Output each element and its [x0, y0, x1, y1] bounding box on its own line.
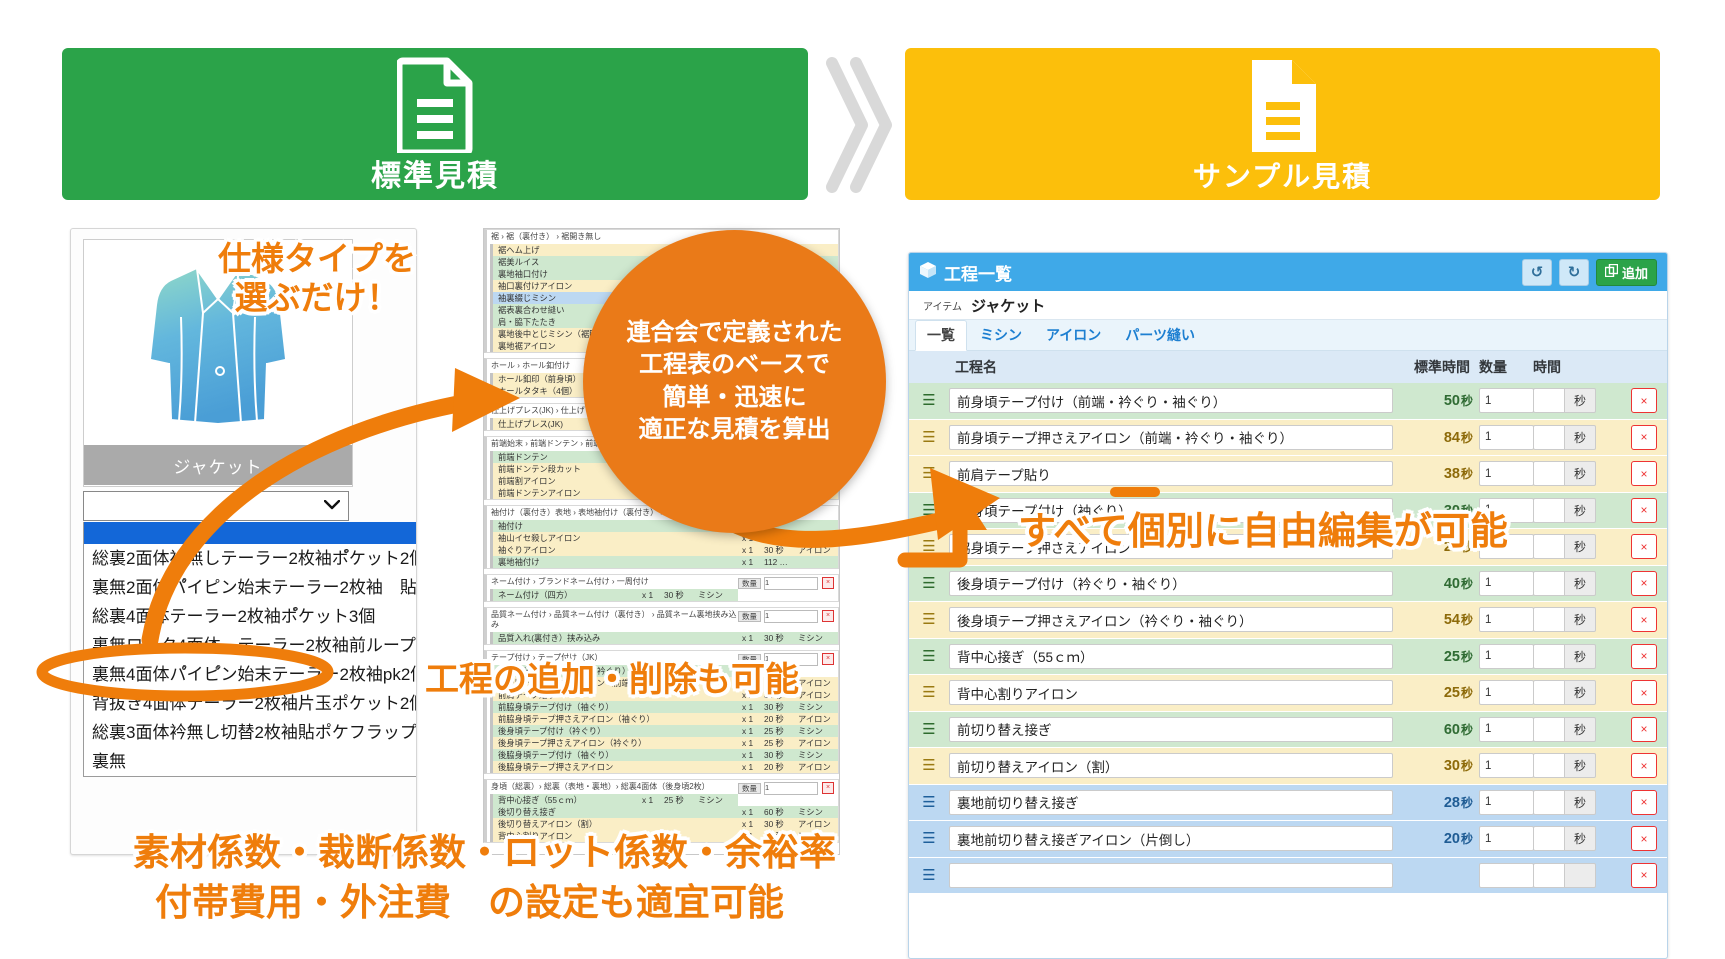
spec-type-select[interactable] [83, 491, 349, 521]
time-unit-label: 秒 [1564, 607, 1596, 632]
process-detail-row[interactable]: 後切り替え接ぎx 160 秒ミシン [493, 806, 838, 818]
quantity-input[interactable]: 1 [1479, 753, 1534, 778]
table-row[interactable]: ☰前身頃テープ押さえアイロン（前端・衿ぐり・袖ぐり）84秒1秒× [909, 420, 1667, 457]
drag-handle-icon[interactable]: ☰ [922, 393, 935, 408]
table-row[interactable]: ☰× [909, 858, 1667, 895]
delete-row-button[interactable]: × [1631, 717, 1657, 742]
detail-row-qty: x 1 [742, 807, 764, 817]
delete-row-button[interactable]: × [1631, 607, 1657, 632]
delete-cell[interactable]: × [1621, 680, 1667, 705]
tab-item[interactable]: ミシン [969, 321, 1033, 350]
quantity-input[interactable]: 1 [1479, 790, 1534, 815]
process-name-input[interactable] [949, 863, 1393, 888]
process-name-cell[interactable]: 背中心接ぎ（55ｃｍ） [949, 644, 1399, 669]
delete-row-button[interactable]: × [1631, 863, 1657, 888]
quantity-input[interactable]: 1 [1479, 571, 1534, 596]
time-unit-label: 秒 [1564, 790, 1596, 815]
process-name-input[interactable]: 裏地前切り替え接ぎ [949, 790, 1393, 815]
delete-cell[interactable]: × [1621, 425, 1667, 450]
detail-row-name: ネーム付け（四方） [498, 589, 642, 601]
delete-row-button[interactable]: × [1631, 425, 1657, 450]
process-group-breadcrumb: ×数量1身頃（総裏）› 総裏（表地・裏地）› 総裏4面体（後身頃2枚） [487, 780, 838, 794]
standard-time-unit: 秒 [1461, 796, 1473, 810]
process-detail-row[interactable]: 品質入れ(裏付き）挟み込みx 130 秒ミシン [493, 632, 838, 644]
spec-option[interactable]: 背抜き4面体テーラー2枚袖片玉ポケット2個 [84, 689, 417, 718]
window-titlebar: 工程一覧 ↺ ↻ 追加 [909, 253, 1667, 291]
drag-handle-icon[interactable]: ☰ [922, 758, 935, 773]
detail-row-kind: アイロン [798, 677, 838, 689]
detail-row-name: 品質入れ(裏付き）挟み込み [498, 632, 742, 644]
group-quantity-input[interactable]: 1 [764, 610, 818, 623]
quantity-cell[interactable] [1479, 863, 1533, 888]
quantity-cell[interactable]: 1 [1479, 717, 1533, 742]
quantity-cell[interactable]: 1 [1479, 790, 1533, 815]
drag-handle-icon[interactable]: ☰ [922, 503, 935, 518]
detail-row-qty: x 1 [742, 545, 764, 555]
delete-cell[interactable]: × [1621, 826, 1667, 851]
circle-callout-line-4: 適正な見積を算出 [639, 414, 831, 446]
time-unit-label: 秒 [1564, 644, 1596, 669]
annotation-spec-type-line1: 仕様タイプを [218, 240, 416, 279]
drag-handle-icon[interactable]: ☰ [922, 868, 935, 883]
time-input[interactable] [1533, 753, 1564, 778]
process-detail-row[interactable]: 袖ぐりアイロンx 130 秒アイロン [493, 544, 838, 556]
process-name-input[interactable]: 後身頃テープ付け（衿ぐり・袖ぐり） [949, 571, 1393, 596]
table-row[interactable]: ☰裏地前切り替え接ぎアイロン（片倒し）20秒1秒× [909, 821, 1667, 858]
delete-cell[interactable]: × [1621, 498, 1667, 523]
time-cell[interactable]: 秒 [1533, 717, 1621, 742]
tab-item[interactable]: アイロン [1035, 321, 1112, 350]
standard-estimate-banner[interactable]: 標準見積 [62, 48, 808, 200]
process-tabs[interactable]: 一覧ミシンアイロンパーツ縫い [909, 320, 1667, 351]
time-unit-label: 秒 [1564, 461, 1596, 486]
drag-handle-icon[interactable]: ☰ [922, 466, 935, 481]
time-input[interactable] [1533, 571, 1564, 596]
standard-time-unit: 秒 [1461, 613, 1473, 627]
process-name-cell[interactable]: 前切り替え接ぎ [949, 717, 1399, 742]
quantity-input[interactable]: 1 [1479, 826, 1534, 851]
time-unit-label: 秒 [1564, 388, 1596, 413]
delete-row-button[interactable]: × [1631, 461, 1657, 486]
table-row[interactable]: ☰裏地前切り替え接ぎ28秒1秒× [909, 785, 1667, 822]
group-quantity-input[interactable]: 1 [764, 577, 818, 590]
quantity-input[interactable]: 1 [1479, 644, 1534, 669]
process-group-breadcrumb: ×数量1品質ネーム付け › 品質ネーム付け（裏付き） › 品質ネーム裏地挟み込み [487, 608, 838, 632]
delete-row-button[interactable]: × [1631, 753, 1657, 778]
header-name: 工程名 [949, 357, 1405, 377]
process-name-cell[interactable]: 後身頃テープ押さえアイロン（衿ぐり・袖ぐり） [949, 607, 1399, 632]
quantity-cell[interactable]: 1 [1479, 644, 1533, 669]
delete-cell[interactable]: × [1621, 863, 1667, 888]
drag-handle-icon[interactable]: ☰ [922, 722, 935, 737]
quantity-cell[interactable]: 1 [1479, 425, 1533, 450]
drag-handle-cell[interactable]: ☰ [909, 430, 949, 445]
time-input[interactable] [1533, 790, 1564, 815]
drag-handle-icon[interactable]: ☰ [922, 430, 935, 445]
group-delete-button[interactable]: × [822, 782, 834, 794]
table-row[interactable]: ☰背中心接ぎ（55ｃｍ）25秒1秒× [909, 639, 1667, 676]
standard-time-unit: 秒 [1461, 394, 1473, 408]
tab-active[interactable]: 一覧 [915, 320, 967, 351]
annotation-coefficients-line1: 素材係数・裁断係数・ロット係数・余裕率 [133, 822, 836, 876]
process-group-rows: 袖付け袖山イセ殺しアイロンx 130 秒アイロン袖ぐりアイロンx 130 秒アイ… [490, 520, 838, 568]
detail-row-qty: x 1 [742, 726, 764, 736]
process-group: ×数量1品質ネーム付け › 品質ネーム付け（裏付き） › 品質ネーム裏地挟み込み… [484, 607, 839, 645]
time-cell[interactable]: 秒 [1533, 607, 1621, 632]
process-group: ×数量1ネーム付け › ブランドネーム付け › 一周付けネーム付け（四方）x 1… [484, 574, 839, 602]
detail-row-kind: ミシン [798, 749, 838, 761]
process-group-rows: ネーム付け（四方）x 130 秒ミシン [490, 589, 838, 601]
process-name-cell[interactable]: 前肩テープ貼り [949, 461, 1399, 486]
detail-row-time: 25 秒 [764, 737, 798, 749]
detail-row-time: 30 秒 [664, 589, 698, 601]
drag-handle-icon[interactable]: ☰ [922, 612, 935, 627]
process-name-cell[interactable]: 後身頃テープ付け（衿ぐり・袖ぐり） [949, 571, 1399, 596]
group-delete-button[interactable]: × [822, 653, 834, 665]
redo-button[interactable]: ↻ [1559, 259, 1589, 286]
drag-handle-cell[interactable]: ☰ [909, 466, 949, 481]
process-detail-row[interactable]: 後脇身頃テープ付け（袖ぐり）x 130 秒ミシン [493, 749, 838, 761]
sample-estimate-label: サンプル見積 [1193, 163, 1372, 191]
spec-option[interactable]: 裏無ロック4面体 テーラー2枚袖前ループ開き [84, 631, 417, 660]
detail-row-time: 30 秒 [764, 532, 798, 544]
delete-row-button[interactable]: × [1631, 680, 1657, 705]
process-detail-row[interactable]: 後身頃テープ付け（衿ぐり）x 125 秒ミシン [493, 725, 838, 737]
group-quantity-input[interactable]: 1 [764, 782, 818, 795]
delete-row-button[interactable]: × [1631, 790, 1657, 815]
detail-row-qty: x 1 [742, 750, 764, 760]
spec-option[interactable]: 裏無2面体パ゚イピン始末テーラー2枚袖 貼ポケ2個 [84, 573, 417, 602]
process-detail-row[interactable]: ネーム付け（四方）x 130 秒ミシン [493, 589, 738, 601]
detail-row-time: 25 秒 [664, 794, 698, 806]
table-row[interactable]: ☰背中心割りアイロン25秒1秒× [909, 675, 1667, 712]
time-input[interactable] [1533, 534, 1564, 559]
process-name-input[interactable]: 前肩テープ貼り [949, 461, 1393, 486]
drag-handle-cell[interactable]: ☰ [909, 612, 949, 627]
standard-time-unit: 秒 [1461, 686, 1473, 700]
process-detail-row[interactable]: 袖山イセ殺しアイロンx 130 秒アイロン [493, 532, 838, 544]
circle-callout-line-2: 工程表のベースで [639, 349, 830, 381]
process-name-cell[interactable]: 前身頃テープ付け（前端・衿ぐり・袖ぐり） [949, 388, 1399, 413]
drag-handle-cell[interactable]: ☰ [909, 795, 949, 810]
process-detail-row[interactable]: 後脇身頃テープ押さえアイロンx 120 秒アイロン [493, 761, 838, 773]
detail-row-qty: x 1 [742, 738, 764, 748]
group-quantity[interactable]: 数量1 [738, 610, 818, 623]
table-row[interactable]: ☰後身頃テープ付け（衿ぐり・袖ぐり）40秒1秒× [909, 566, 1667, 603]
delete-cell[interactable]: × [1621, 571, 1667, 596]
standard-time-cell: 60秒 [1399, 721, 1479, 738]
header-time: 時間 [1533, 357, 1621, 377]
standard-time-unit: 秒 [1461, 832, 1473, 846]
tab-item[interactable]: パーツ縫い [1114, 321, 1206, 350]
detail-row-name: 後切り替え接ぎ [498, 806, 742, 818]
time-unit-label: 秒 [1564, 571, 1596, 596]
detail-row-time: 30 秒 [764, 544, 798, 556]
table-header-row: 工程名 標準時間 数量 時間 [909, 351, 1667, 383]
standard-time-cell: 28秒 [1399, 794, 1479, 811]
group-quantity[interactable]: 数量1 [738, 782, 818, 795]
table-row[interactable]: ☰前肩テープ貼り38秒1秒× [909, 456, 1667, 493]
annotation-edit-free: すべて個別に自由編集が可能 [1018, 500, 1508, 555]
standard-time-value: 28 [1444, 795, 1460, 811]
detail-row-qty: x 1 [742, 557, 764, 567]
quantity-input[interactable]: 1 [1479, 461, 1534, 486]
time-cell[interactable]: 秒 [1533, 571, 1621, 596]
document-icon [1248, 58, 1318, 159]
time-unit-label: 秒 [1564, 425, 1596, 450]
spec-type-option-list[interactable]: 総裏2面体衿無しテーラー2枚袖ポ゚ケット2個裏無2面体パ゚イピン始末テーラー2枚… [83, 522, 417, 777]
time-unit-label: 秒 [1564, 680, 1596, 705]
delete-cell[interactable]: × [1621, 388, 1667, 413]
delete-row-button[interactable]: × [1631, 644, 1657, 669]
drag-handle-cell[interactable]: ☰ [909, 393, 949, 408]
process-detail-row[interactable]: 裏地袖付けx 1112 … [493, 556, 838, 568]
quantity-cell[interactable]: 1 [1479, 753, 1533, 778]
standard-time-unit: 秒 [1461, 723, 1473, 737]
spec-option[interactable]: 総裏4面体テーラー2枚袖ポ゚ケット3個 [84, 602, 417, 631]
time-cell[interactable]: 秒 [1533, 534, 1621, 559]
detail-row-kind: アイロン [798, 689, 838, 701]
time-input[interactable] [1533, 388, 1564, 413]
standard-time-value: 30 [1444, 758, 1460, 774]
quantity-cell[interactable]: 1 [1479, 571, 1533, 596]
standard-time-cell: 50秒 [1399, 392, 1479, 409]
delete-cell[interactable]: × [1621, 534, 1667, 559]
process-name-cell[interactable]: 前身頃テープ押さえアイロン（前端・衿ぐり・袖ぐり） [949, 425, 1399, 450]
standard-time-cell: 25秒 [1399, 684, 1479, 701]
time-input[interactable] [1533, 826, 1564, 851]
time-input[interactable] [1533, 607, 1564, 632]
table-row[interactable]: ☰前切り替え接ぎ60秒1秒× [909, 712, 1667, 749]
delete-row-button[interactable]: × [1631, 498, 1657, 523]
detail-row-qty: x 1 [742, 533, 764, 543]
process-name-input[interactable]: 前身頃テープ押さえアイロン（前端・衿ぐり・袖ぐり） [949, 425, 1393, 450]
process-detail-row[interactable]: 背中心接ぎ（55ｃｍ）x 125 秒ミシン [493, 794, 738, 806]
process-group-rows: 品質入れ(裏付き）挟み込みx 130 秒ミシン [490, 632, 838, 644]
time-input[interactable] [1533, 680, 1564, 705]
quantity-cell[interactable]: 1 [1479, 461, 1533, 486]
time-input[interactable] [1533, 863, 1564, 888]
process-name-cell[interactable]: 裏地前切り替え接ぎ [949, 790, 1399, 815]
undo-button[interactable]: ↺ [1522, 259, 1552, 286]
sample-estimate-banner[interactable]: サンプル見積 [905, 48, 1660, 200]
table-row[interactable]: ☰前身頃テープ付け（前端・衿ぐり・袖ぐり）50秒1秒× [909, 383, 1667, 420]
spec-option[interactable]: 裏無 [84, 747, 417, 776]
double-chevron-icon [826, 55, 896, 195]
quantity-cell[interactable]: 1 [1479, 826, 1533, 851]
process-name-input[interactable]: 裏地前切り替え接ぎアイロン（片倒し） [949, 826, 1393, 851]
drag-handle-icon[interactable]: ☰ [922, 685, 935, 700]
process-detail-row[interactable]: 前脇身頃テープ付け（袖ぐり）x 130 秒ミシン [493, 701, 838, 713]
group-quantity-label: 数量 [738, 611, 761, 622]
drag-handle-icon[interactable]: ☰ [922, 539, 935, 554]
quantity-input[interactable]: 1 [1479, 388, 1534, 413]
delete-cell[interactable]: × [1621, 607, 1667, 632]
standard-time-value: 60 [1444, 722, 1460, 738]
poster-root: 標準見積 サンプル見積 [0, 0, 1725, 959]
item-label: アイテム [923, 298, 962, 313]
time-input[interactable] [1533, 461, 1564, 486]
process-name-cell[interactable]: 背中心割りアイロン [949, 680, 1399, 705]
standard-time-cell: 25秒 [1399, 648, 1479, 665]
time-cell[interactable]: 秒 [1533, 680, 1621, 705]
process-name-cell[interactable] [949, 863, 1399, 888]
drag-handle-icon[interactable]: ☰ [922, 649, 935, 664]
drag-handle-cell[interactable]: ☰ [909, 831, 949, 846]
drag-handle-cell[interactable]: ☰ [909, 576, 949, 591]
document-icon [397, 57, 473, 158]
spec-option[interactable]: 総裏3面体衿無し切替2枚袖貼ポケフラップ付き [84, 718, 417, 747]
add-button[interactable]: 追加 [1596, 259, 1657, 286]
drag-handle-cell[interactable]: ☰ [909, 649, 949, 664]
time-cell[interactable]: 秒 [1533, 498, 1621, 523]
drag-handle-icon[interactable]: ☰ [922, 795, 935, 810]
drag-handle-cell[interactable]: ☰ [909, 868, 949, 883]
detail-row-time: 30 秒 [764, 749, 798, 761]
item-caption: ジャケット [84, 445, 352, 485]
detail-row-qty: x 1 [642, 795, 664, 805]
quantity-cell[interactable]: 1 [1479, 680, 1533, 705]
annotation-coefficients-line2: 付帯費用・外注費 の設定も適宜可能 [155, 872, 784, 926]
drag-handle-cell[interactable]: ☰ [909, 758, 949, 773]
time-input[interactable] [1533, 717, 1564, 742]
detail-row-kind: アイロン [798, 713, 838, 725]
quantity-input[interactable] [1479, 863, 1534, 888]
detail-row-name: 後身頃テープ押さえアイロン（衿ぐり） [498, 737, 742, 749]
group-quantity-label: 数量 [738, 783, 761, 794]
delete-cell[interactable]: × [1621, 461, 1667, 486]
time-unit-label: 秒 [1564, 534, 1596, 559]
detail-row-name: 前脇身頃テープ付け（袖ぐり） [498, 701, 742, 713]
group-quantity[interactable]: 数量1 [738, 577, 818, 590]
drag-handle-cell[interactable]: ☰ [909, 503, 949, 518]
header-standard-time: 標準時間 [1405, 357, 1479, 377]
detail-row-name: 裏地袖付け [498, 556, 742, 568]
process-name-input[interactable]: 前切り替えアイロン（割） [949, 753, 1393, 778]
delete-cell[interactable]: × [1621, 753, 1667, 778]
delete-cell[interactable]: × [1621, 644, 1667, 669]
standard-time-cell: 38秒 [1399, 465, 1479, 482]
circle-callout-line-3: 簡単・迅速に [663, 382, 807, 414]
group-delete-button[interactable]: × [822, 610, 834, 622]
chevron-down-icon [324, 497, 340, 515]
annotation-spec-type-line2: 選ぶだけ！ [218, 279, 416, 318]
spec-option[interactable]: 総裏2面体衿無しテーラー2枚袖ポ゚ケット2個 [84, 544, 417, 573]
standard-time-cell: 30秒 [1399, 757, 1479, 774]
detail-row-qty: x 1 [742, 714, 764, 724]
time-cell[interactable]: 秒 [1533, 790, 1621, 815]
standard-time-unit: 秒 [1461, 650, 1473, 664]
time-unit-label: 秒 [1564, 826, 1596, 851]
quantity-cell[interactable]: 1 [1479, 388, 1533, 413]
time-cell[interactable]: 秒 [1533, 753, 1621, 778]
quantity-input[interactable]: 1 [1479, 717, 1534, 742]
time-cell[interactable]: 秒 [1533, 461, 1621, 486]
delete-row-button[interactable]: × [1631, 534, 1657, 559]
standard-time-value: 40 [1444, 576, 1460, 592]
drag-handle-cell[interactable]: ☰ [909, 539, 949, 554]
time-input[interactable] [1533, 425, 1564, 450]
drag-handle-icon[interactable]: ☰ [922, 576, 935, 591]
time-input[interactable] [1533, 644, 1564, 669]
table-row[interactable]: ☰後身頃テープ押さえアイロン（衿ぐり・袖ぐり）54秒1秒× [909, 602, 1667, 639]
time-cell[interactable]: 秒 [1533, 425, 1621, 450]
drag-handle-icon[interactable]: ☰ [922, 831, 935, 846]
process-list-window: 工程一覧 ↺ ↻ 追加 アイテム ジャケット 一覧ミシンアイロンパーツ縫い 工程… [908, 252, 1668, 959]
time-unit-label: 秒 [1564, 753, 1596, 778]
detail-row-time: 30 秒 [764, 701, 798, 713]
box-icon [919, 261, 937, 284]
delete-row-button[interactable]: × [1631, 388, 1657, 413]
standard-time-value: 20 [1444, 831, 1460, 847]
detail-row-kind: アイロン [798, 761, 838, 773]
detail-row-time: 20 秒 [764, 761, 798, 773]
standard-time-unit: 秒 [1461, 759, 1473, 773]
spec-option[interactable]: 裏無4面体パ゚イピ゚ン始末テーラー2枚袖pk2個 [84, 660, 417, 689]
detail-row-kind: ミシン [798, 725, 838, 737]
item-value: ジャケット [971, 295, 1045, 316]
delete-row-button[interactable]: × [1631, 826, 1657, 851]
table-row[interactable]: ☰前切り替えアイロン（割）30秒1秒× [909, 748, 1667, 785]
time-cell[interactable] [1533, 863, 1621, 888]
time-cell[interactable]: 秒 [1533, 388, 1621, 413]
spec-type-panel: ジャケット 総裏2面体衿無しテーラー2枚袖ポ゚ケット2個裏無2面体パ゚イピン始末… [70, 228, 417, 855]
process-detail-row[interactable]: 前脇身頃テープ押さえアイロン（袖ぐり）x 120 秒アイロン [493, 713, 838, 725]
breadcrumb-text: 身頃（総裏）› 総裏（表地・裏地）› 総裏4面体（後身頃2枚） [491, 782, 710, 791]
detail-row-qty: x 1 [642, 590, 664, 600]
quantity-input[interactable]: 1 [1479, 607, 1534, 632]
header-quantity: 数量 [1479, 357, 1533, 377]
detail-row-kind: ミシン [798, 632, 838, 644]
process-name-cell[interactable]: 前切り替えアイロン（割） [949, 753, 1399, 778]
time-cell[interactable]: 秒 [1533, 826, 1621, 851]
standard-time-cell: 84秒 [1399, 429, 1479, 446]
process-name-cell[interactable]: 裏地前切り替え接ぎアイロン（片倒し） [949, 826, 1399, 851]
time-cell[interactable]: 秒 [1533, 644, 1621, 669]
delete-cell[interactable]: × [1621, 717, 1667, 742]
delete-row-button[interactable]: × [1631, 571, 1657, 596]
breadcrumb-text: ホール › ホール釦付け [491, 361, 570, 370]
drag-handle-cell[interactable]: ☰ [909, 685, 949, 700]
process-detail-row[interactable]: 後身頃テープ押さえアイロン（衿ぐり）x 125 秒アイロン [493, 737, 838, 749]
copy-add-icon [1605, 264, 1618, 280]
process-table-body: ☰前身頃テープ付け（前端・衿ぐり・袖ぐり）50秒1秒×☰前身頃テープ押さえアイロ… [909, 383, 1667, 894]
detail-row-name: 後脇身頃テープ押さえアイロン [498, 761, 742, 773]
time-unit-label: 秒 [1564, 717, 1596, 742]
process-name-input[interactable]: 背中心接ぎ（55ｃｍ） [949, 644, 1393, 669]
process-name-input[interactable]: 背中心割りアイロン [949, 680, 1393, 705]
spec-option[interactable] [84, 522, 417, 544]
quantity-input[interactable]: 1 [1479, 425, 1534, 450]
detail-row-qty: x 1 [742, 633, 764, 643]
time-input[interactable] [1533, 498, 1564, 523]
annotation-add-delete: 工程の追加・削除も可能 [425, 652, 799, 701]
detail-row-name: 袖山イセ殺しアイロン [498, 532, 742, 544]
detail-row-name: 前脇身頃テープ押さえアイロン（袖ぐり） [498, 713, 742, 725]
drag-handle-cell[interactable]: ☰ [909, 722, 949, 737]
standard-time-cell: 54秒 [1399, 611, 1479, 628]
process-name-input[interactable]: 前切り替え接ぎ [949, 717, 1393, 742]
process-name-input[interactable]: 後身頃テープ押さえアイロン（衿ぐり・袖ぐり） [949, 607, 1393, 632]
delete-cell[interactable]: × [1621, 790, 1667, 815]
standard-time-value: 54 [1444, 612, 1460, 628]
detail-row-kind: ミシン [798, 806, 838, 818]
quantity-input[interactable]: 1 [1479, 680, 1534, 705]
breadcrumb-text: 品質ネーム付け › 品質ネーム付け（裏付き） › 品質ネーム裏地挟み込み [491, 610, 737, 629]
process-name-input[interactable]: 前身頃テープ付け（前端・衿ぐり・袖ぐり） [949, 388, 1393, 413]
group-delete-button[interactable]: × [822, 577, 834, 589]
quantity-cell[interactable]: 1 [1479, 607, 1533, 632]
